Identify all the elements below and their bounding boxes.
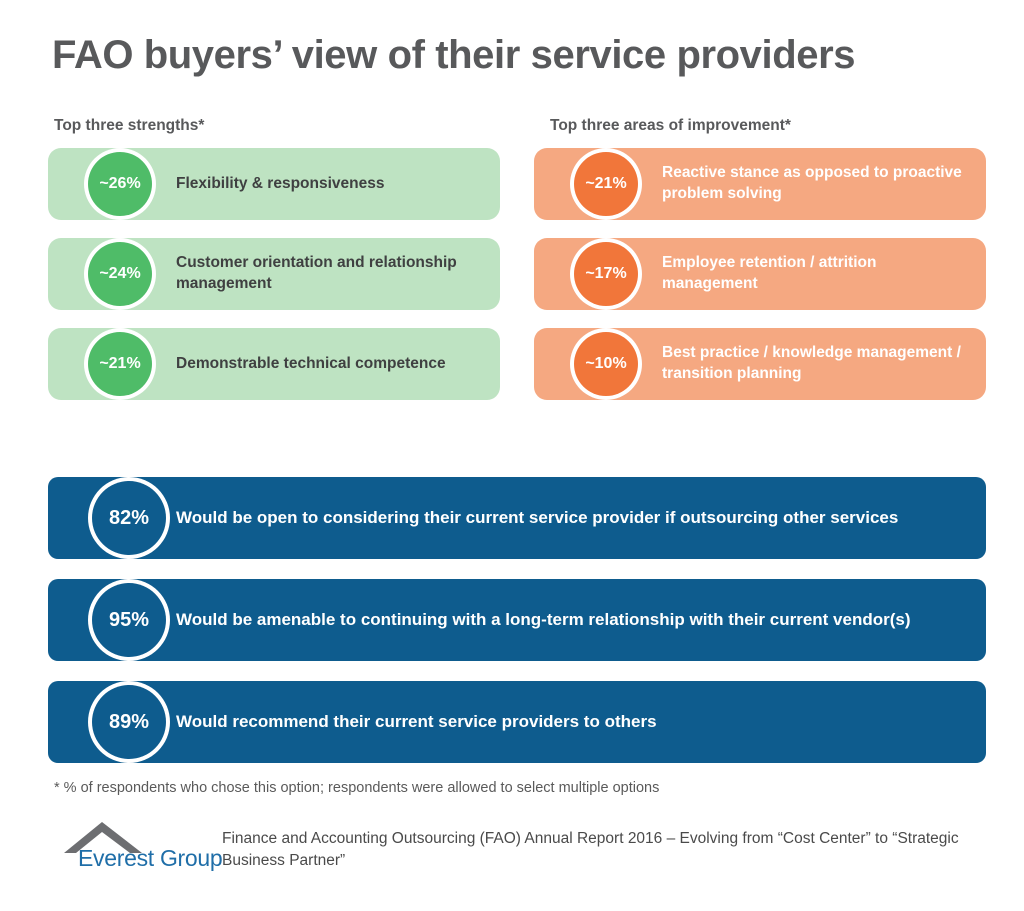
page-title: FAO buyers’ view of their service provid…: [52, 33, 855, 78]
statement-label-1: Would be open to considering their curre…: [176, 507, 898, 530]
strength-circle-2: ~24%: [88, 242, 152, 306]
strengths-heading: Top three strengths*: [54, 117, 204, 135]
statement-value-2: 95%: [109, 610, 149, 630]
statement-bar-2: Would be amenable to continuing with a l…: [48, 579, 986, 661]
strength-circle-3: ~21%: [88, 332, 152, 396]
strength-value-1: ~26%: [99, 176, 140, 192]
improvements-heading: Top three areas of improvement*: [550, 117, 791, 135]
improvement-circle-3: ~10%: [574, 332, 638, 396]
strength-label-2: Customer orientation and relationship ma…: [176, 253, 482, 294]
statement-label-2: Would be amenable to continuing with a l…: [176, 609, 911, 632]
strength-value-2: ~24%: [99, 266, 140, 282]
statement-value-3: 89%: [109, 712, 149, 732]
improvement-label-2: Employee retention / attrition managemen…: [662, 253, 968, 294]
everest-group-logo: Everest Group: [60, 820, 220, 882]
improvement-circle-2: ~17%: [574, 242, 638, 306]
statement-bar-3: Would recommend their current service pr…: [48, 681, 986, 763]
statement-circle-3: 89%: [92, 685, 166, 759]
statement-circle-2: 95%: [92, 583, 166, 657]
improvement-circle-1: ~21%: [574, 152, 638, 216]
improvement-value-3: ~10%: [585, 356, 626, 372]
footnote: * % of respondents who chose this option…: [54, 780, 659, 796]
strength-circle-1: ~26%: [88, 152, 152, 216]
statement-label-3: Would recommend their current service pr…: [176, 711, 657, 734]
improvement-value-1: ~21%: [585, 176, 626, 192]
improvement-label-3: Best practice / knowledge management / t…: [662, 343, 968, 384]
everest-group-wordmark: Everest Group: [78, 845, 222, 872]
strength-label-1: Flexibility & responsiveness: [176, 174, 384, 195]
statement-circle-1: 82%: [92, 481, 166, 555]
improvement-label-1: Reactive stance as opposed to proactive …: [662, 163, 968, 204]
statement-bar-1: Would be open to considering their curre…: [48, 477, 986, 559]
improvement-value-2: ~17%: [585, 266, 626, 282]
strength-value-3: ~21%: [99, 356, 140, 372]
strength-label-3: Demonstrable technical competence: [176, 354, 446, 375]
statement-value-1: 82%: [109, 508, 149, 528]
source-caption: Finance and Accounting Outsourcing (FAO)…: [222, 828, 962, 873]
